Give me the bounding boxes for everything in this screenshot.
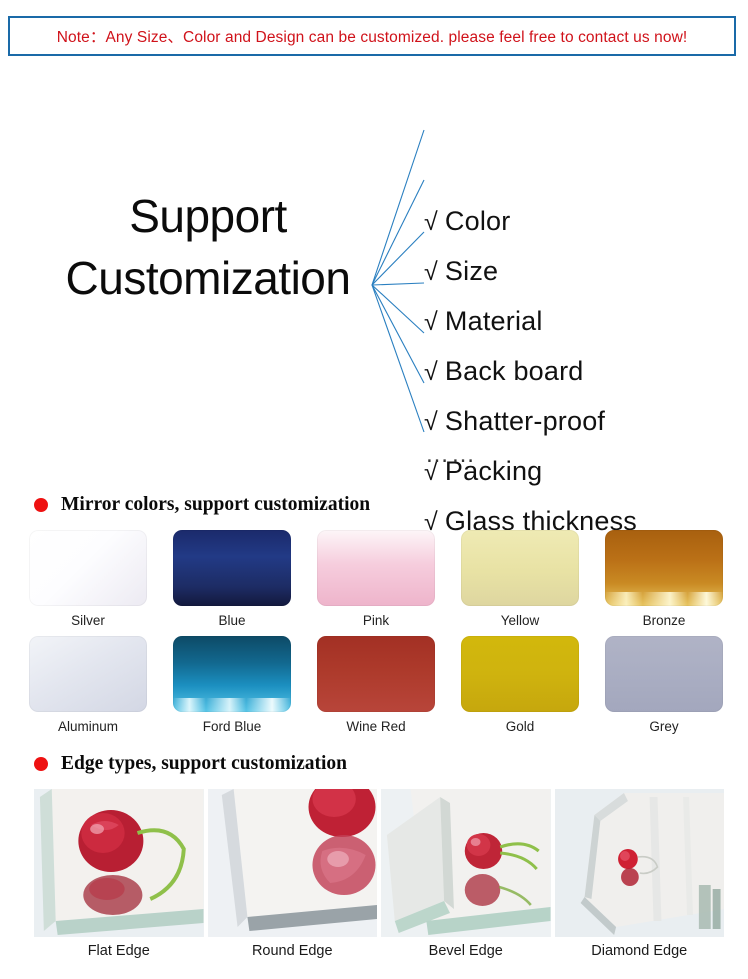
feature-label: Shatter-proof <box>445 406 605 436</box>
swatch-aluminum[interactable]: Aluminum <box>26 636 150 742</box>
feature-shatter-proof: √Shatter-proof <box>424 406 605 437</box>
photo-bevel-edge <box>381 789 551 937</box>
swatch-chip <box>461 530 579 606</box>
support-customization-section: Support Customization √Color √Size √Mate… <box>0 85 748 485</box>
edge-types-gallery <box>34 789 724 937</box>
photo-flat-edge <box>34 789 204 937</box>
swatch-label: Ford Blue <box>203 719 262 734</box>
edge-caption-bevel: Bevel Edge <box>381 943 551 959</box>
bullet-icon <box>34 498 48 512</box>
mirror-colors-heading-text: Mirror colors, support customization <box>61 494 370 516</box>
swatch-wine-red[interactable]: Wine Red <box>314 636 438 742</box>
swatch-label: Grey <box>649 719 678 734</box>
feature-color: √Color <box>424 206 510 237</box>
swatch-blue[interactable]: Blue <box>170 530 294 636</box>
swatch-yellow[interactable]: Yellow <box>458 530 582 636</box>
feature-ellipsis: …… <box>425 441 477 469</box>
swatch-gold[interactable]: Gold <box>458 636 582 742</box>
feature-label: Color <box>445 206 511 236</box>
bullet-icon <box>34 757 48 771</box>
swatch-grey[interactable]: Grey <box>602 636 726 742</box>
feature-label: Size <box>445 256 498 286</box>
swatch-label: Aluminum <box>58 719 118 734</box>
photo-diamond-edge <box>555 789 725 937</box>
check-icon: √ <box>424 408 438 436</box>
mirror-colors-heading: Mirror colors, support customization <box>34 494 370 516</box>
connector-lines <box>0 85 748 485</box>
edge-types-heading-text: Edge types, support customization <box>61 753 347 775</box>
edge-types-heading: Edge types, support customization <box>34 753 347 775</box>
swatch-label: Yellow <box>501 613 540 628</box>
check-icon: √ <box>424 208 438 236</box>
swatch-ford-blue[interactable]: Ford Blue <box>170 636 294 742</box>
check-icon: √ <box>424 308 438 336</box>
specular-highlight <box>173 698 291 712</box>
swatch-bronze[interactable]: Bronze <box>602 530 726 636</box>
swatch-chip <box>605 530 723 606</box>
swatch-label: Silver <box>71 613 105 628</box>
check-icon: √ <box>424 258 438 286</box>
edge-type-captions: Flat Edge Round Edge Bevel Edge Diamond … <box>34 943 724 959</box>
feature-label: Material <box>445 306 543 336</box>
swatch-chip <box>29 530 147 606</box>
swatch-label: Wine Red <box>346 719 405 734</box>
swatch-label: Blue <box>218 613 245 628</box>
feature-back-board: √Back board <box>424 356 584 387</box>
swatch-chip <box>173 530 291 606</box>
edge-caption-diamond: Diamond Edge <box>555 943 725 959</box>
edge-photo-round[interactable] <box>208 789 378 937</box>
edge-caption-flat: Flat Edge <box>34 943 204 959</box>
note-banner: Note：Any Size、Color and Design can be cu… <box>8 16 736 56</box>
specular-highlight <box>605 592 723 606</box>
feature-label: Back board <box>445 356 584 386</box>
check-icon: √ <box>424 358 438 386</box>
swatch-label: Bronze <box>643 613 686 628</box>
note-text: Note：Any Size、Color and Design can be cu… <box>57 25 688 47</box>
edge-photo-flat[interactable] <box>34 789 204 937</box>
swatch-label: Gold <box>506 719 535 734</box>
edge-photo-bevel[interactable] <box>381 789 551 937</box>
swatch-chip <box>317 636 435 712</box>
edge-photo-diamond[interactable] <box>555 789 725 937</box>
swatch-label: Pink <box>363 613 389 628</box>
swatch-chip <box>29 636 147 712</box>
swatch-chip <box>605 636 723 712</box>
photo-round-edge <box>208 789 378 937</box>
mirror-colors-grid: Silver Blue Pink Yellow Bronze Aluminum … <box>26 530 726 742</box>
feature-size: √Size <box>424 256 498 287</box>
swatch-chip <box>317 530 435 606</box>
feature-material: √Material <box>424 306 543 337</box>
swatch-chip <box>173 636 291 712</box>
swatch-pink[interactable]: Pink <box>314 530 438 636</box>
edge-caption-round: Round Edge <box>208 943 378 959</box>
swatch-silver[interactable]: Silver <box>26 530 150 636</box>
swatch-chip <box>461 636 579 712</box>
